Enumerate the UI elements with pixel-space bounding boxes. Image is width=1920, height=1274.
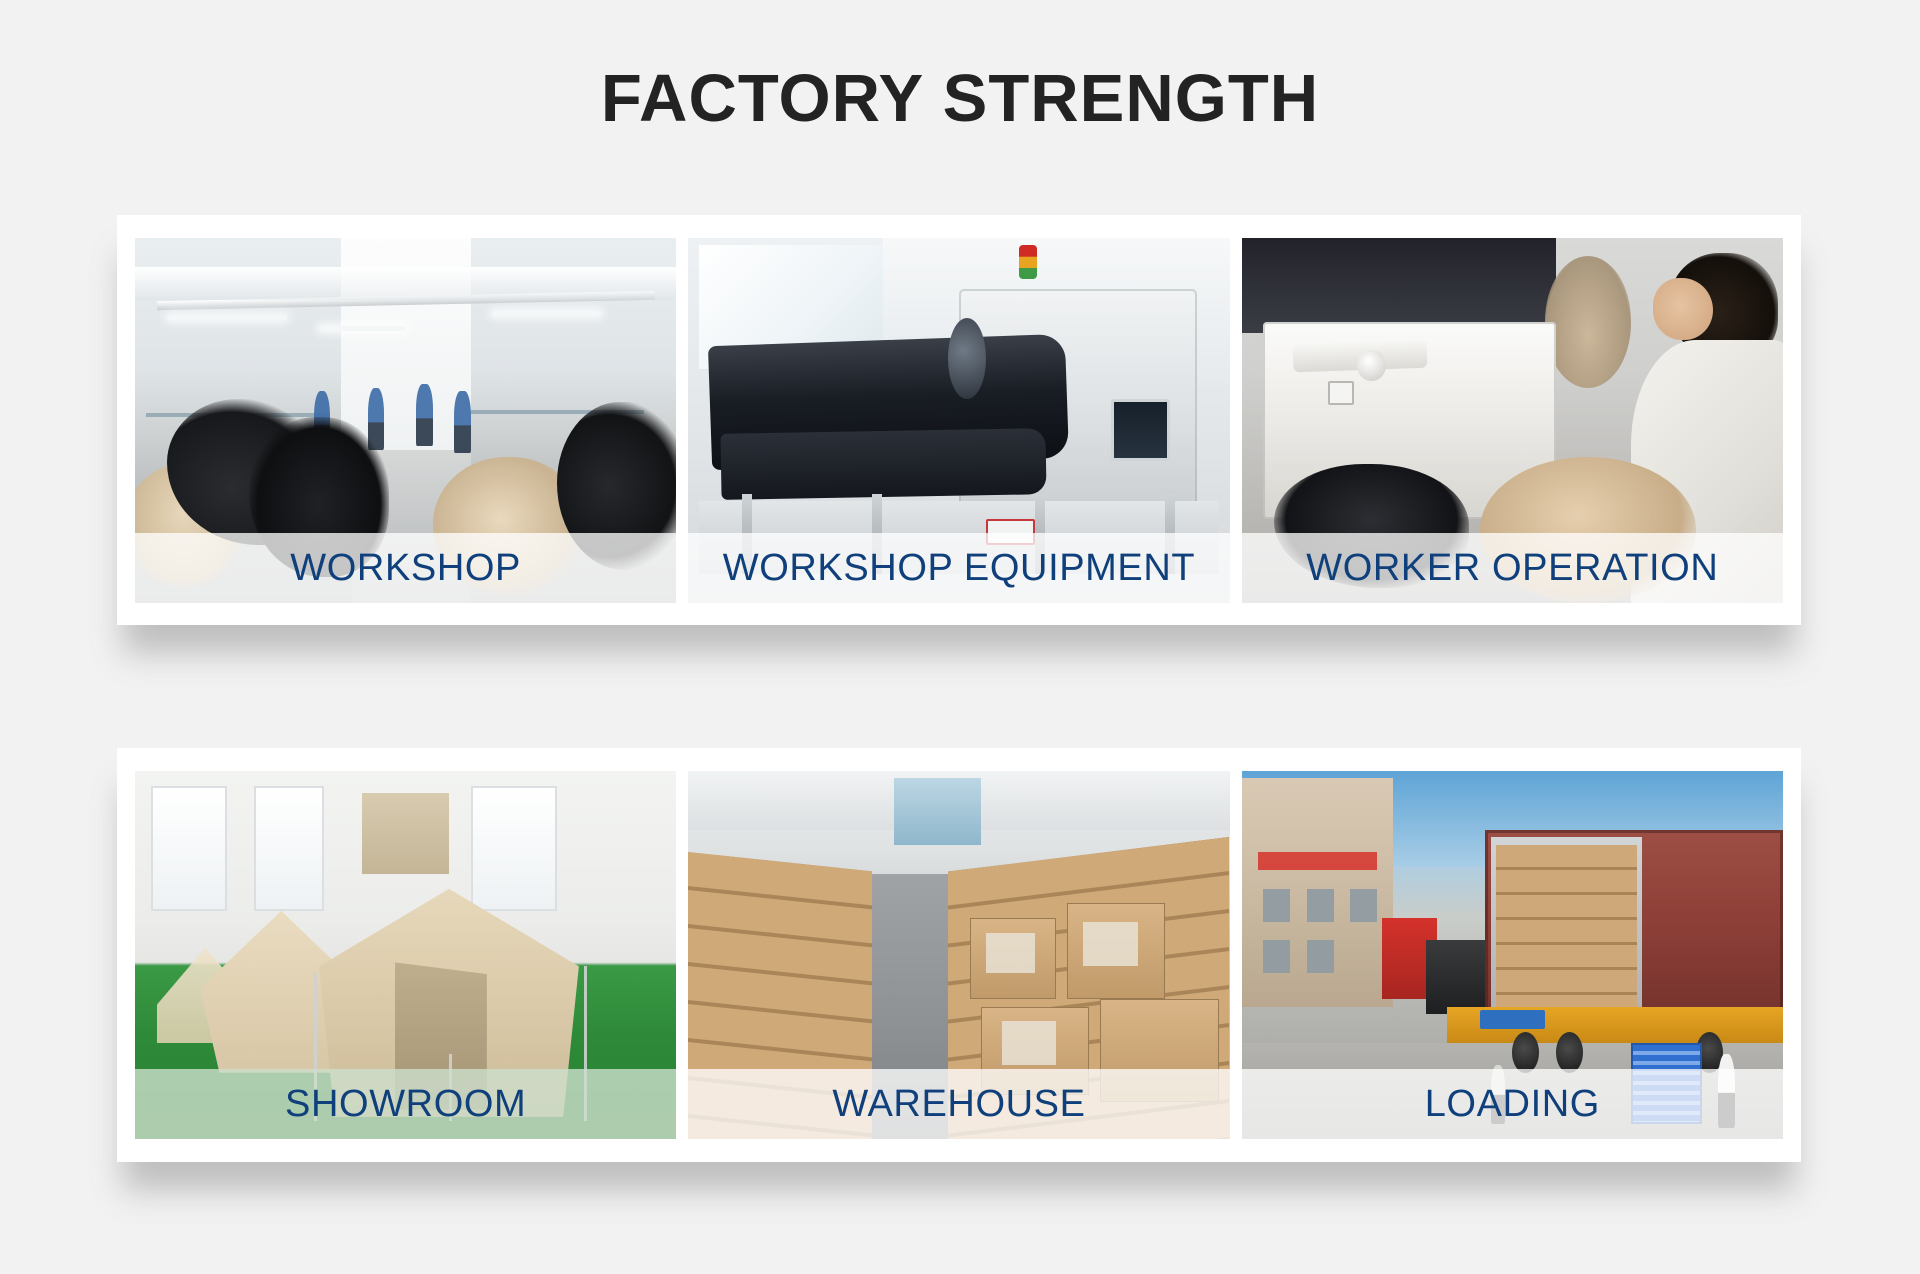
trailer-wheel [1512,1032,1539,1072]
carton-label [1002,1021,1056,1065]
building-window [1263,940,1290,973]
window [894,778,981,844]
dark-background [1242,238,1556,333]
tile-label-warehouse: WAREHOUSE [832,1083,1085,1126]
dark-van [1426,940,1491,1014]
window [254,786,324,911]
tile-label-workshop-equipment: WORKSHOP EQUIPMENT [723,547,1195,590]
loading-label-band: LOADING [1242,1069,1783,1139]
tile-worker-operation[interactable]: WORKER OPERATION [1242,238,1783,603]
signal-tower-lamp [1019,245,1037,279]
building-sign [1258,852,1377,870]
tile-showroom[interactable]: SHOWROOM [135,771,676,1139]
tile-label-loading: LOADING [1425,1083,1600,1126]
tile-warehouse[interactable]: WAREHOUSE [688,771,1229,1139]
production-row-tiles: WORKSHOP [135,238,1783,603]
second-worker [1545,256,1632,387]
tile-workshop-equipment[interactable]: WORKSHOP EQUIPMENT [688,238,1229,603]
machine-touchscreen [1111,399,1171,461]
warehouse-label-band: WAREHOUSE [688,1069,1229,1139]
building-window [1307,889,1334,922]
workshop-label-band: WORKSHOP [135,533,676,603]
ceiling-light [167,315,286,320]
fabric-roll [720,429,1046,500]
worker-figure [454,391,470,453]
showroom-label-band: SHOWROOM [135,1069,676,1139]
ceiling-rail [157,291,655,310]
worker-figure [416,384,432,446]
logistics-row-tiles: SHOWROOM [135,771,1783,1139]
factory-strength-page: FACTORY STRENGTH [0,0,1920,1274]
workshop-equipment-label-band: WORKSHOP EQUIPMENT [688,533,1229,603]
carton-label [986,933,1035,973]
roll-end-cap [948,318,986,398]
tile-label-showroom: SHOWROOM [285,1083,526,1126]
license-plate [1480,1010,1545,1028]
logistics-row-card: SHOWROOM [117,748,1801,1162]
ceiling-light [319,326,406,331]
tile-loading[interactable]: LOADING [1242,771,1783,1139]
carton-label [1083,922,1137,966]
control-panel [1328,381,1354,405]
window [471,786,558,911]
worker-face [1653,278,1713,340]
sewing-machine-head [1357,350,1386,382]
page-title: FACTORY STRENGTH [0,62,1920,136]
tile-label-worker-operation: WORKER OPERATION [1306,547,1718,590]
display-shelf [362,793,449,874]
worker-operation-label-band: WORKER OPERATION [1242,533,1783,603]
ceiling-light [492,311,600,316]
production-row-card: WORKSHOP [117,215,1801,625]
trailer-wheel [1556,1032,1583,1072]
window [151,786,227,911]
building-window [1263,889,1290,922]
tile-label-workshop: WORKSHOP [290,547,521,590]
building-window [1307,940,1334,973]
loaded-cartons [1496,845,1637,1007]
building-window [1350,889,1377,922]
tile-workshop[interactable]: WORKSHOP [135,238,676,603]
